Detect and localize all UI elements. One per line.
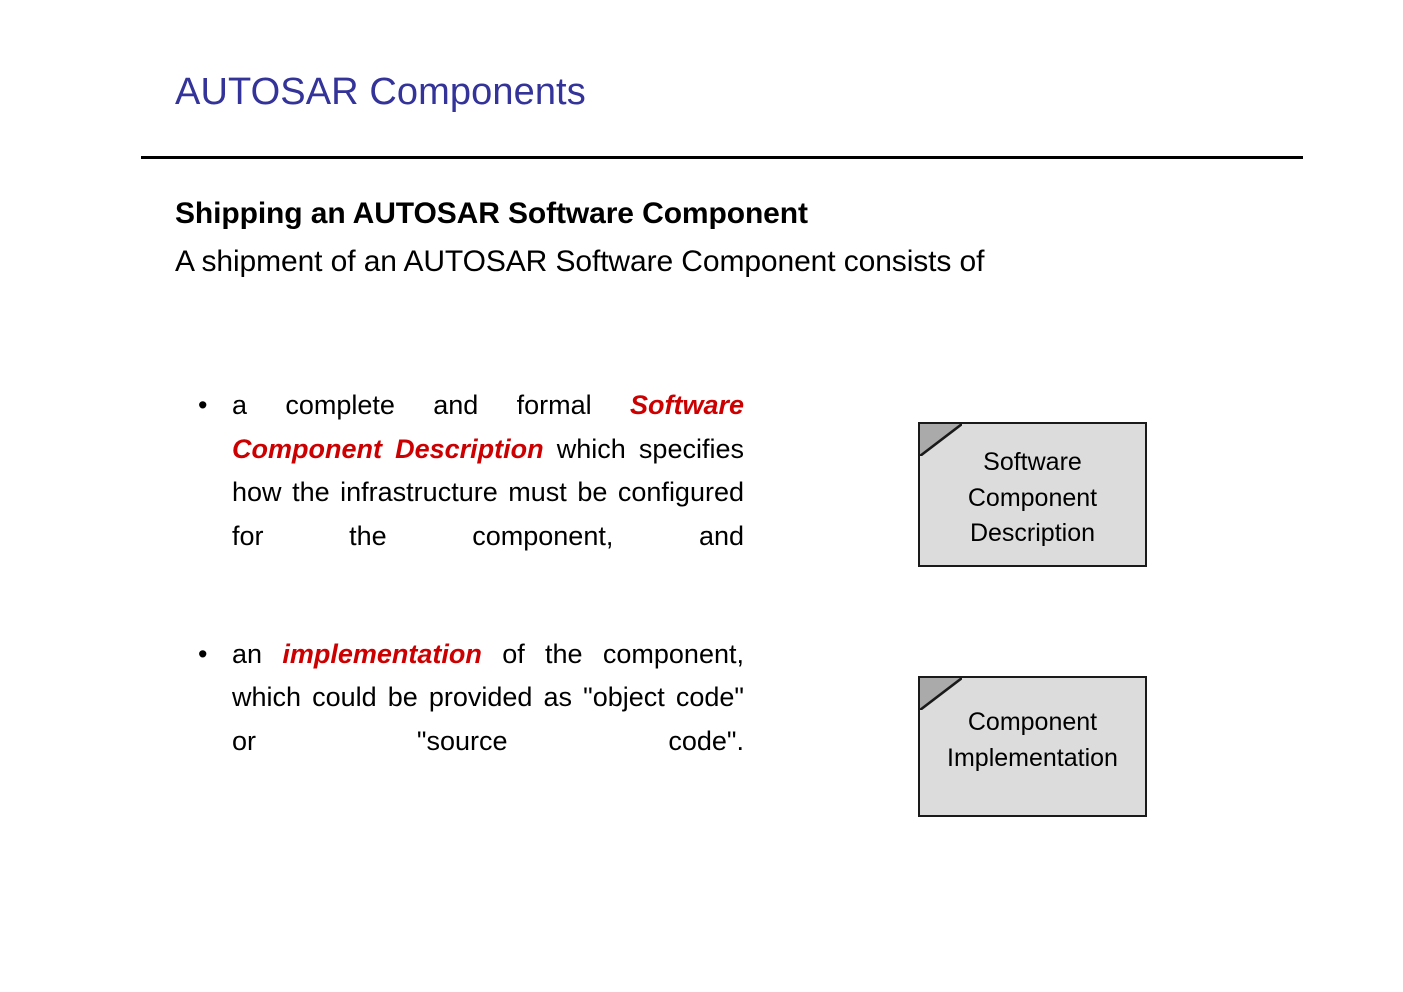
list-item: • an implementation of the component, wh… xyxy=(196,633,744,808)
shape-label: Component Implementation xyxy=(937,705,1128,776)
bullet-list: • a complete and formal Software Compone… xyxy=(196,384,744,808)
intro-paragraph: A shipment of an AUTOSAR Software Compon… xyxy=(175,239,1230,284)
section-heading: Shipping an AUTOSAR Software Component xyxy=(175,196,1235,231)
shape-software-component-description: Software Component Description xyxy=(918,422,1147,567)
list-item-text: an implementation of the component, whic… xyxy=(232,633,744,808)
bullet-marker-icon: • xyxy=(198,633,207,677)
shape-component-implementation: Component Implementation xyxy=(918,676,1147,817)
bullet-text-segment: an xyxy=(232,639,282,669)
shape-label: Software Component Description xyxy=(958,445,1107,552)
list-item: • a complete and formal Software Compone… xyxy=(196,384,744,603)
page-title: AUTOSAR Components xyxy=(175,72,586,114)
emphasis-implementation: implementation xyxy=(282,639,482,669)
slide-body: Shipping an AUTOSAR Software Component A… xyxy=(175,196,1235,284)
fold-triangle xyxy=(920,424,962,456)
title-divider xyxy=(141,156,1303,159)
document-folded-corner-icon xyxy=(920,424,962,456)
list-item-text: a complete and formal Software Component… xyxy=(232,384,744,603)
bullet-marker-icon: • xyxy=(198,384,207,428)
bullet-text-segment: a complete and formal xyxy=(232,390,630,420)
